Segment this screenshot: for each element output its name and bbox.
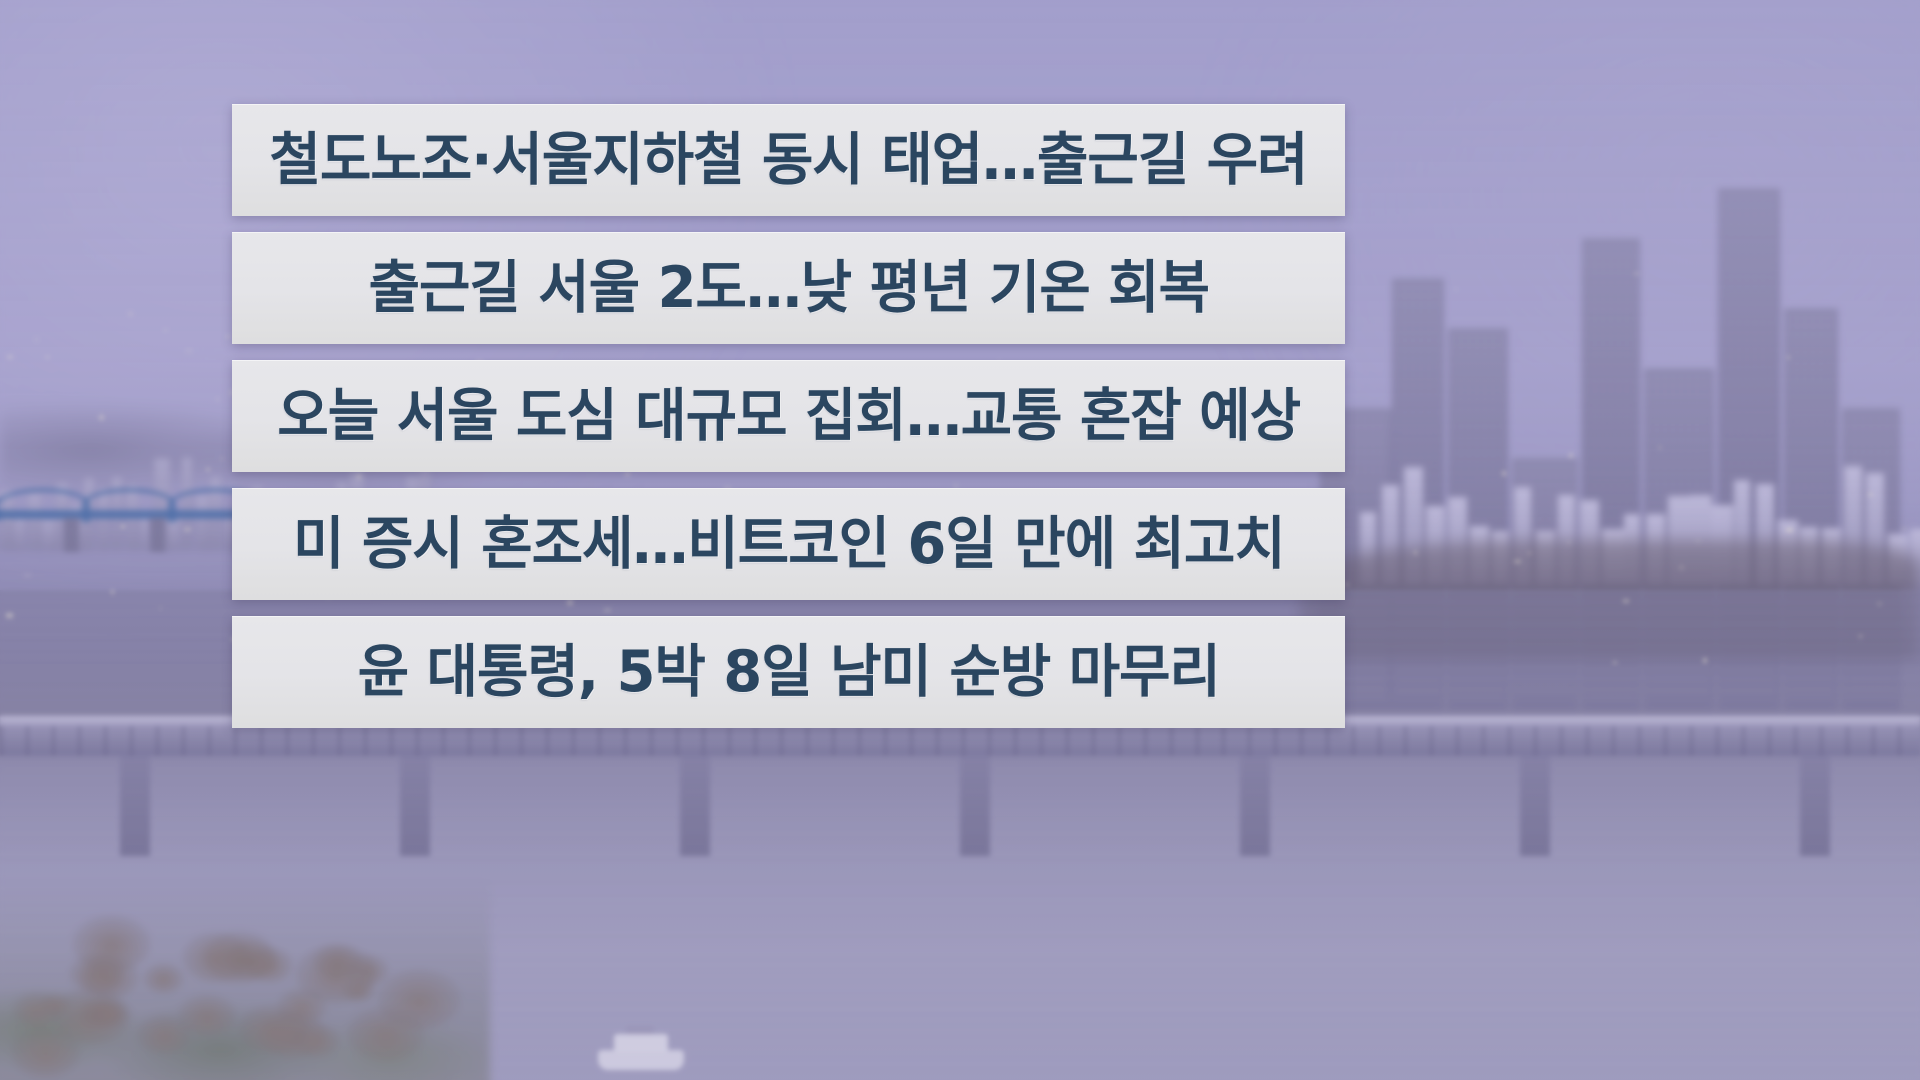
headline-bar-4: 미 증시 혼조세…비트코인 6일 만에 최고치 (232, 488, 1345, 600)
headline-bar-2: 출근길 서울 2도…낮 평년 기온 회복 (232, 232, 1345, 344)
headline-bar-5: 윤 대통령, 5박 8일 남미 순방 마무리 (232, 616, 1345, 728)
headline-text-3: 오늘 서울 도심 대규모 집회…교통 혼잡 예상 (277, 388, 1300, 445)
headline-text-1: 철도노조·서울지하철 동시 태업…출근길 우려 (270, 132, 1308, 189)
headline-bar-3: 오늘 서울 도심 대규모 집회…교통 혼잡 예상 (232, 360, 1345, 472)
headline-text-5: 윤 대통령, 5박 8일 남미 순방 마무리 (357, 644, 1219, 701)
headline-text-2: 출근길 서울 2도…낮 평년 기온 회복 (368, 260, 1208, 317)
news-headline-screen: 철도노조·서울지하철 동시 태업…출근길 우려 출근길 서울 2도…낮 평년 기… (0, 0, 1920, 1080)
headline-list: 철도노조·서울지하철 동시 태업…출근길 우려 출근길 서울 2도…낮 평년 기… (232, 104, 1345, 728)
headline-bar-1: 철도노조·서울지하철 동시 태업…출근길 우려 (232, 104, 1345, 216)
headline-text-4: 미 증시 혼조세…비트코인 6일 만에 최고치 (293, 516, 1285, 573)
